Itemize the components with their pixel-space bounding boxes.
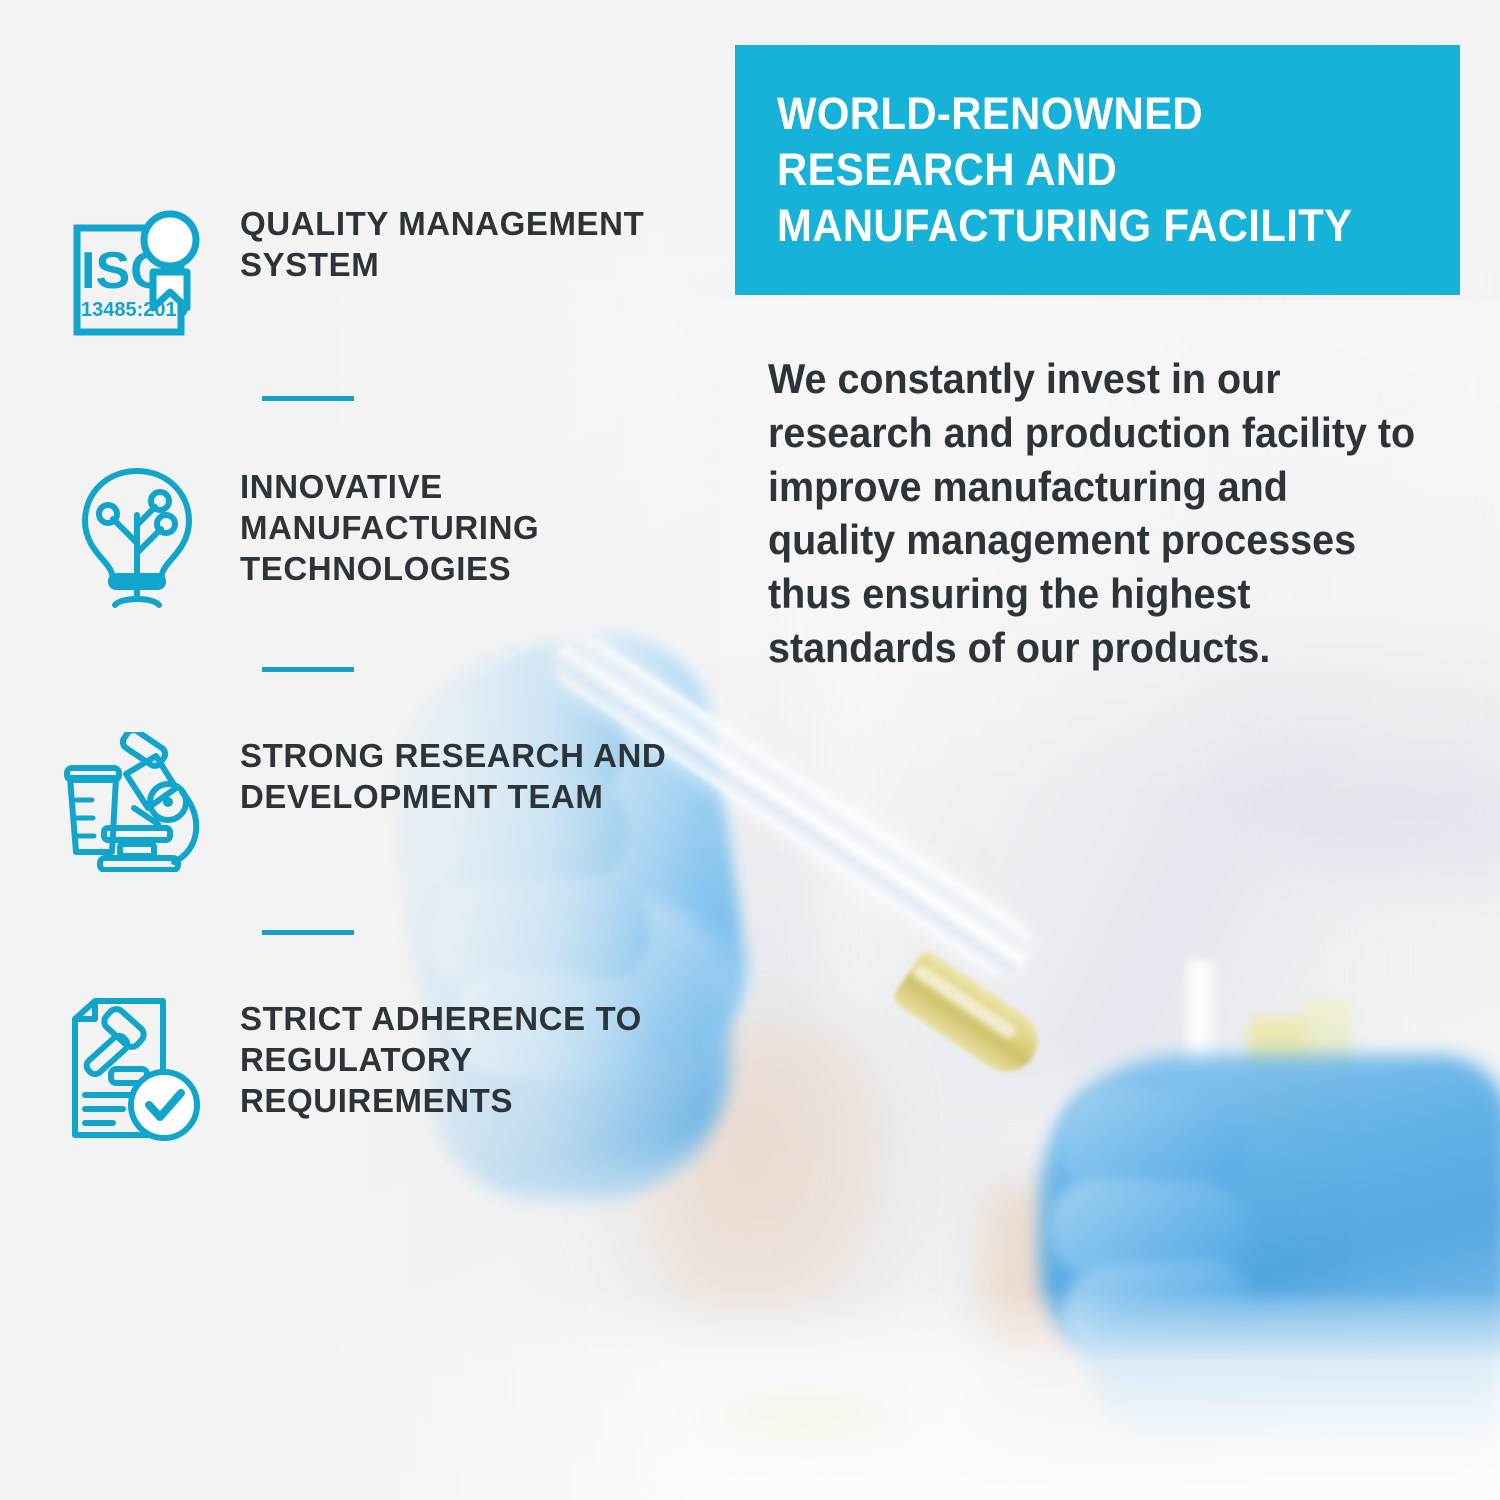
intro-paragraph: We constantly invest in our research and…: [768, 352, 1426, 675]
document-gavel-check-icon: [62, 991, 212, 1143]
feature-divider-1: [62, 396, 682, 401]
feature-title: INNOVATIVE MANUFACTURING TECHNOLOGIES: [240, 459, 682, 590]
infographic-page: WORLD-RENOWNED RESEARCH AND MANUFACTURIN…: [0, 0, 1500, 1500]
feature-title: QUALITY MANAGEMENT SYSTEM: [240, 196, 682, 286]
iso-icon-secondary-label: 13485:2016: [81, 299, 188, 321]
divider-line: [262, 396, 354, 401]
headline-title: WORLD-RENOWNED RESEARCH AND MANUFACTURIN…: [777, 86, 1352, 255]
feature-item-regulatory-requirements: STRICT ADHERENCE TO REGULATORY REQUIREME…: [62, 991, 682, 1143]
headline-banner: WORLD-RENOWNED RESEARCH AND MANUFACTURIN…: [735, 45, 1460, 295]
feature-item-quality-management: ISO 13485:2016 QUALITY MANAGEMENT SYSTEM: [62, 196, 682, 340]
divider-line: [262, 930, 354, 935]
feature-divider-3: [62, 930, 682, 935]
microscope-icon: [62, 728, 212, 872]
divider-line: [262, 667, 354, 672]
feature-item-innovative-manufacturing: INNOVATIVE MANUFACTURING TECHNOLOGIES: [62, 459, 682, 609]
feature-item-research-development: STRONG RESEARCH AND DEVELOPMENT TEAM: [62, 728, 682, 872]
lightbulb-circuit-icon: [62, 459, 212, 609]
feature-title: STRONG RESEARCH AND DEVELOPMENT TEAM: [240, 728, 682, 818]
feature-divider-2: [62, 667, 682, 672]
iso-certificate-icon: ISO 13485:2016: [62, 196, 212, 340]
feature-list: ISO 13485:2016 QUALITY MANAGEMENT SYSTEM: [62, 196, 682, 1143]
feature-title: STRICT ADHERENCE TO REGULATORY REQUIREME…: [240, 991, 682, 1122]
